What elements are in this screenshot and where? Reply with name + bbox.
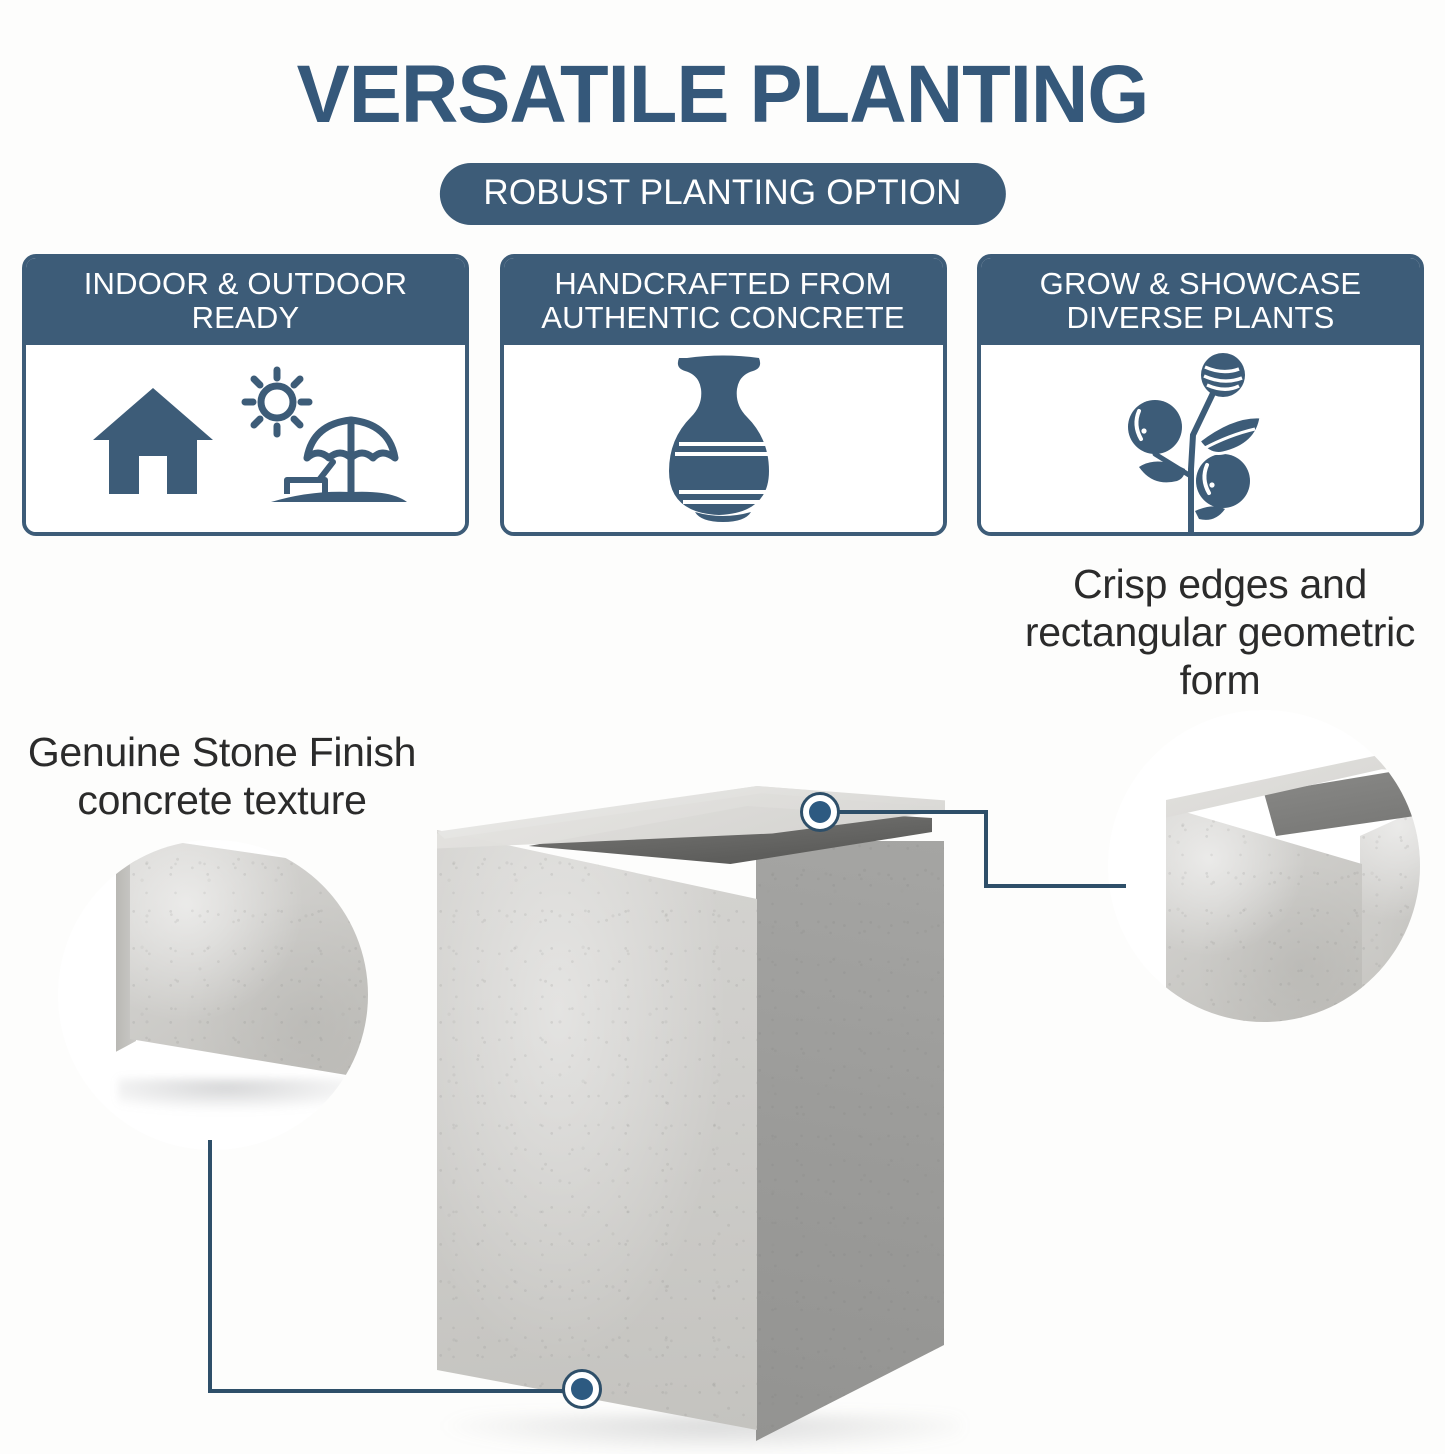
planter-side-face [756, 841, 944, 1441]
planter-shadow [442, 1414, 962, 1454]
feature-card-indoor-outdoor: INDOOR & OUTDOOR READY [22, 254, 469, 536]
callout-line-top-segment-3 [984, 884, 1126, 888]
berry-branch-icon [1111, 349, 1291, 536]
detail-zoom-stone-texture [58, 840, 368, 1150]
feature-card-icon-area [26, 345, 465, 532]
feature-card-title: INDOOR & OUTDOOR READY [26, 258, 465, 345]
subtitle-badge: ROBUST PLANTING OPTION [439, 163, 1005, 225]
callout-line-top-segment-1 [836, 810, 988, 814]
feature-card-handcrafted-concrete: HANDCRAFTED FROM AUTHENTIC CONCRETE [500, 254, 947, 536]
callout-line-bottom-segment-1 [208, 1140, 212, 1393]
feature-card-title: HANDCRAFTED FROM AUTHENTIC CONCRETE [504, 258, 943, 345]
vase-icon [653, 352, 793, 522]
feature-card-title-line1: HANDCRAFTED FROM [510, 267, 937, 301]
callout-marker-top-edge[interactable] [800, 792, 840, 832]
feature-card-title-line1: INDOOR & OUTDOOR [32, 267, 459, 301]
callout-line-bottom-segment-2 [208, 1389, 580, 1393]
callout-marker-bottom-edge[interactable] [562, 1369, 602, 1409]
feature-card-title-line2: AUTHENTIC CONCRETE [510, 301, 937, 335]
detail-zoom-content [1108, 710, 1420, 1022]
callout-line-top-segment-2 [984, 810, 988, 888]
slab-textured-face [130, 840, 368, 1098]
detail-zoom-crisp-corner [1108, 710, 1420, 1022]
product-planter-image [352, 786, 942, 1446]
feature-card-title-line1: GROW & SHOWCASE [987, 267, 1414, 301]
feature-card-icon-area [504, 345, 943, 532]
annotation-crisp-edges: Crisp edges and rectangular geometric fo… [1020, 560, 1420, 704]
house-sun-beach-umbrella-icon [81, 362, 411, 512]
feature-card-diverse-plants: GROW & SHOWCASE DIVERSE PLANTS [977, 254, 1424, 536]
page-title: VERSATILE PLANTING [22, 52, 1424, 138]
slab-shadow [118, 1078, 368, 1112]
feature-card-title: GROW & SHOWCASE DIVERSE PLANTS [981, 258, 1420, 345]
feature-card-row: INDOOR & OUTDOOR READY [22, 254, 1424, 536]
feature-card-icon-area [981, 345, 1420, 536]
feature-card-title-line2: READY [32, 301, 459, 335]
detail-zoom-content [58, 840, 368, 1150]
planter-front-face [437, 830, 757, 1430]
feature-card-title-line2: DIVERSE PLANTS [987, 301, 1414, 335]
infographic-stage: VERSATILE PLANTING ROBUST PLANTING OPTIO… [0, 0, 1445, 1445]
